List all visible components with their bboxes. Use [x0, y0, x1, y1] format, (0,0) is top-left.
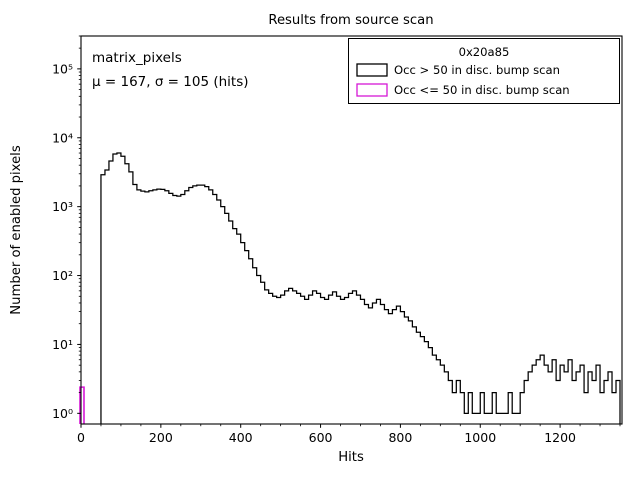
y-tick-label: 10³ [52, 199, 73, 214]
y-tick-label: 10⁴ [52, 130, 73, 145]
chart-legend[interactable]: 0x20a85 Occ > 50 in disc. bump scan Occ … [349, 39, 620, 104]
y-tick-label: 10¹ [52, 337, 73, 352]
x-tick-label: 1200 [544, 430, 576, 445]
y-tick-label: 10⁰ [52, 406, 73, 421]
legend-label-occ-le-50: Occ <= 50 in disc. bump scan [394, 83, 570, 97]
x-tick-label: 600 [309, 430, 333, 445]
chart-canvas: Results from source scan 020040060080010… [0, 0, 640, 480]
y-tick-label: 10⁵ [52, 61, 73, 76]
legend-label-occ-gt-50: Occ > 50 in disc. bump scan [394, 63, 560, 77]
chart-title: Results from source scan [268, 13, 433, 28]
x-tick-label: 800 [388, 430, 412, 445]
dataset-name-annotation: matrix_pixels [92, 50, 182, 66]
legend-title: 0x20a85 [459, 45, 510, 59]
x-tick-label: 1000 [464, 430, 496, 445]
x-tick-label: 400 [229, 430, 253, 445]
matplotlib-figure: Results from source scan 020040060080010… [0, 0, 640, 480]
x-axis-label: Hits [338, 450, 364, 465]
stats-annotation: μ = 167, σ = 105 (hits) [92, 74, 249, 90]
x-tick-label: 200 [149, 430, 173, 445]
y-tick-label: 10² [52, 268, 73, 283]
y-axis-label: Number of enabled pixels [9, 145, 24, 315]
x-tick-label: 0 [77, 430, 85, 445]
